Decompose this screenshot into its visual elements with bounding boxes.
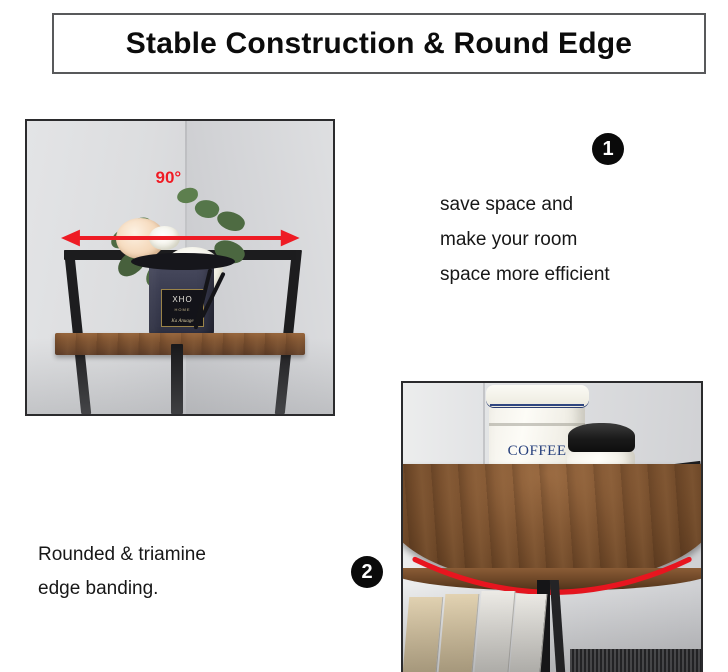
vase-brand-text: XHO — [162, 295, 203, 304]
callout-two-line-2: edge banding. — [38, 572, 206, 606]
callout-one-line-1: save space and — [440, 187, 710, 222]
page-title-box: Stable Construction & Round Edge — [52, 13, 706, 74]
callout-one-line-3: space more efficient — [440, 257, 710, 292]
floor-shadow — [403, 585, 701, 672]
callout-one-line-2: make your room — [440, 222, 710, 257]
corner-shelf-with-flowers-photo: XHO HOME Ka Anuage 90° — [25, 119, 335, 416]
number-badge-1: 1 — [592, 133, 624, 165]
width-double-arrow-icon — [61, 226, 300, 250]
canister-seam-upper — [489, 423, 584, 426]
number-badge-2: 2 — [351, 556, 383, 588]
jar-black-lid — [568, 423, 635, 452]
canister-lid-blue-stripe — [490, 404, 585, 406]
callout-one-badge-row: 1 — [508, 133, 708, 165]
page-title: Stable Construction & Round Edge — [126, 27, 632, 61]
callout-one-text: save space and make your room space more… — [440, 187, 710, 292]
callout-two-line-1: Rounded & triamine — [38, 538, 206, 572]
callout-two-text: Rounded & triamine edge banding. — [38, 538, 206, 606]
angle-label-90-degrees: 90° — [156, 168, 182, 188]
callout-one: 1 save space and make your room space mo… — [430, 133, 710, 292]
callout-two: Rounded & triamine edge banding. 2 — [38, 538, 383, 606]
floor-shadow — [27, 338, 333, 414]
rounded-edge-closeup-photo: COFFEE coffee — [401, 381, 703, 672]
canister-lid — [486, 385, 589, 407]
